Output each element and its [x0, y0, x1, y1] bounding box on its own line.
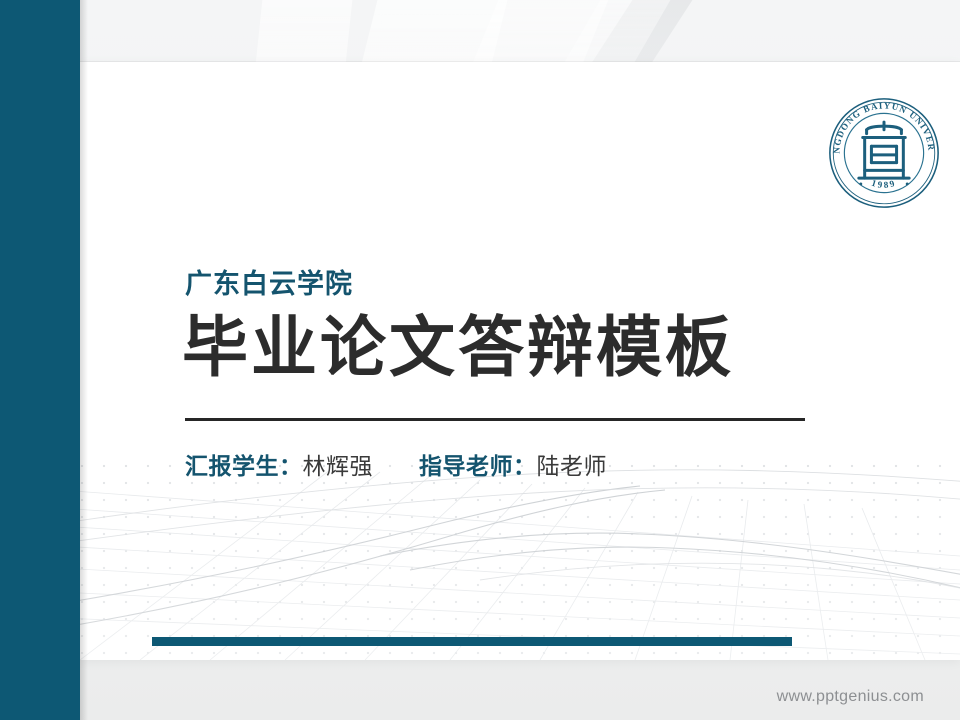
rail-shadow: [80, 0, 88, 720]
slide-stage: GUANGDONG BAIYUN UNIVERSITY 1989: [0, 0, 960, 720]
slide-card: GUANGDONG BAIYUN UNIVERSITY 1989: [80, 62, 960, 660]
left-nav-rail: [0, 0, 80, 720]
student-label: 汇报学生：: [185, 453, 303, 479]
slide-headline: 毕业论文答辩模板: [182, 312, 734, 383]
student-name: 林辉强: [303, 453, 374, 479]
advisor-label: 指导老师：: [419, 453, 537, 479]
advisor-name: 陆老师: [537, 453, 608, 479]
university-seal-icon: GUANGDONG BAIYUN UNIVERSITY 1989: [826, 95, 942, 211]
slide-eyebrow: 广东白云学院: [185, 262, 353, 301]
byline: 汇报学生：林辉强指导老师：陆老师: [185, 447, 607, 481]
headline-divider: [185, 418, 805, 421]
slide-footer-bar: [152, 637, 792, 646]
site-watermark: www.pptgenius.com: [777, 688, 924, 706]
